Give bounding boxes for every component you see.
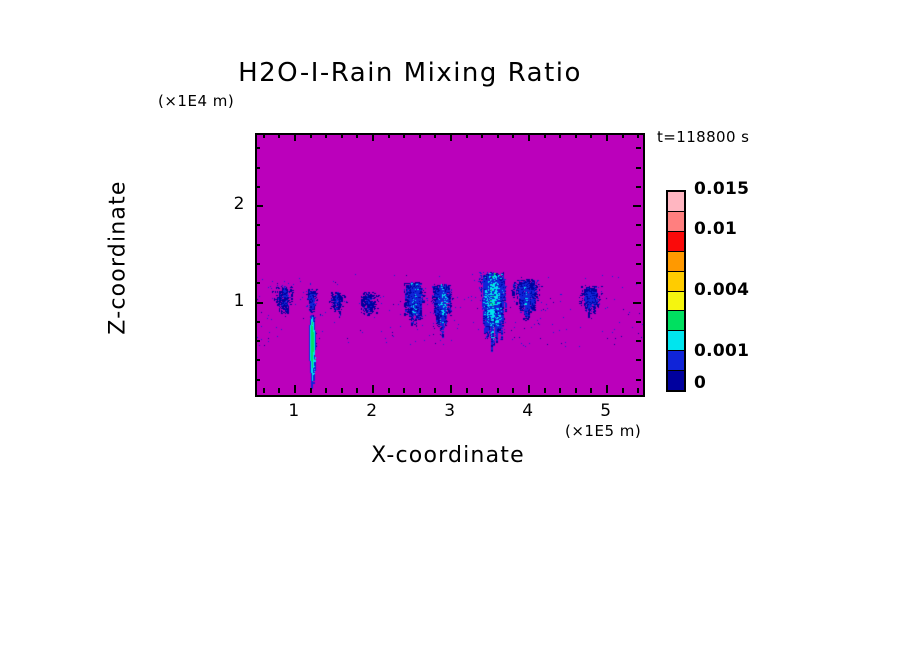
x-major-tick-top — [294, 133, 296, 141]
y-minor-tick — [255, 321, 260, 323]
y-minor-tick-right — [636, 379, 641, 381]
x-minor-tick — [544, 388, 546, 393]
colorbar-band — [668, 272, 684, 292]
x-minor-tick-top — [622, 133, 624, 138]
colorbar-band — [668, 212, 684, 232]
colorbar-band — [668, 232, 684, 252]
x-axis-unit-label: (×1E5 m) — [565, 422, 641, 440]
x-minor-tick — [512, 388, 514, 393]
plot-area — [255, 133, 645, 397]
x-minor-tick-top — [575, 133, 577, 138]
y-minor-tick — [255, 244, 260, 246]
x-minor-tick — [575, 388, 577, 393]
y-tick-label: 2 — [205, 194, 245, 214]
x-minor-tick-top — [637, 133, 639, 138]
y-minor-tick-right — [636, 282, 641, 284]
colorbar-tick-label: 0.01 — [694, 219, 737, 239]
y-axis-unit-label: (×1E4 m) — [158, 92, 234, 110]
x-minor-tick-top — [263, 133, 265, 138]
x-minor-tick-top — [403, 133, 405, 138]
x-minor-tick — [325, 388, 327, 393]
x-tick-label: 1 — [274, 401, 314, 421]
x-major-tick — [450, 385, 452, 393]
x-minor-tick-top — [434, 133, 436, 138]
x-minor-tick-top — [512, 133, 514, 138]
x-minor-tick-top — [466, 133, 468, 138]
x-minor-tick — [341, 388, 343, 393]
x-minor-tick — [590, 388, 592, 393]
x-minor-tick-top — [590, 133, 592, 138]
plot-title-text: H2O-I-Rain Mixing Ratio — [238, 58, 582, 88]
x-minor-tick — [310, 388, 312, 393]
x-major-tick-top — [372, 133, 374, 141]
y-minor-tick — [255, 263, 260, 265]
x-minor-tick — [481, 388, 483, 393]
x-minor-tick — [388, 388, 390, 393]
time-stamp-annotation: t=118800 s — [657, 128, 749, 146]
y-minor-tick — [255, 186, 260, 188]
x-minor-tick-top — [325, 133, 327, 138]
x-minor-tick — [278, 388, 280, 393]
x-minor-tick-top — [497, 133, 499, 138]
x-minor-tick — [559, 388, 561, 393]
x-major-tick — [294, 385, 296, 393]
x-major-tick — [606, 385, 608, 393]
colorbar-tick-label: 0 — [694, 373, 706, 393]
colorbar-band — [668, 252, 684, 272]
y-major-tick-right — [633, 302, 641, 304]
y-minor-tick — [255, 379, 260, 381]
x-minor-tick — [497, 388, 499, 393]
x-major-tick-top — [528, 133, 530, 141]
x-minor-tick — [263, 388, 265, 393]
y-major-tick — [255, 205, 263, 207]
y-minor-tick-right — [636, 186, 641, 188]
colorbar-band — [668, 331, 684, 351]
y-minor-tick — [255, 340, 260, 342]
x-minor-tick-top — [278, 133, 280, 138]
x-minor-tick-top — [544, 133, 546, 138]
colorbar-band — [668, 192, 684, 212]
colorbar-tick-label: 0.001 — [694, 341, 749, 361]
x-minor-tick-top — [419, 133, 421, 138]
y-minor-tick-right — [636, 263, 641, 265]
x-tick-label: 2 — [352, 401, 392, 421]
x-minor-tick-top — [388, 133, 390, 138]
figure-canvas: H2O-I-Rain Mixing Ratio (×1E4 m) t=11880… — [0, 0, 904, 654]
y-minor-tick-right — [636, 340, 641, 342]
x-minor-tick — [434, 388, 436, 393]
colorbar-tick-label: 0.004 — [694, 280, 749, 300]
y-minor-tick-right — [636, 321, 641, 323]
colorbar-band — [668, 351, 684, 371]
y-axis-title: Z-coordinate — [106, 128, 131, 388]
colorbar-band — [668, 292, 684, 312]
y-major-tick-right — [633, 205, 641, 207]
colorbar-band — [668, 371, 684, 390]
x-minor-tick-top — [559, 133, 561, 138]
y-minor-tick-right — [636, 359, 641, 361]
colorbar-tick-label: 0.015 — [694, 179, 749, 199]
x-major-tick-top — [450, 133, 452, 141]
x-minor-tick — [356, 388, 358, 393]
x-tick-label: 4 — [508, 401, 548, 421]
x-minor-tick-top — [356, 133, 358, 138]
x-minor-tick-top — [481, 133, 483, 138]
x-major-tick — [372, 385, 374, 393]
y-minor-tick — [255, 167, 260, 169]
y-major-tick — [255, 302, 263, 304]
y-minor-tick — [255, 282, 260, 284]
x-minor-tick — [622, 388, 624, 393]
y-minor-tick-right — [636, 244, 641, 246]
x-minor-tick-top — [341, 133, 343, 138]
page-title: H2O-I-Rain Mixing Ratio — [0, 58, 904, 88]
colorbar — [666, 190, 686, 392]
y-minor-tick-right — [636, 224, 641, 226]
y-minor-tick — [255, 359, 260, 361]
x-tick-label: 5 — [586, 401, 626, 421]
x-major-tick-top — [606, 133, 608, 141]
x-major-tick — [528, 385, 530, 393]
y-tick-label: 1 — [205, 291, 245, 311]
x-minor-tick — [419, 388, 421, 393]
x-axis-title: X-coordinate — [255, 443, 641, 468]
x-tick-label: 3 — [430, 401, 470, 421]
y-minor-tick — [255, 224, 260, 226]
x-minor-tick — [637, 388, 639, 393]
x-minor-tick — [466, 388, 468, 393]
colorbar-band — [668, 311, 684, 331]
y-minor-tick-right — [636, 147, 641, 149]
x-minor-tick — [403, 388, 405, 393]
y-minor-tick-right — [636, 167, 641, 169]
rain-mixing-ratio-field — [257, 135, 643, 395]
x-minor-tick-top — [310, 133, 312, 138]
y-minor-tick — [255, 147, 260, 149]
